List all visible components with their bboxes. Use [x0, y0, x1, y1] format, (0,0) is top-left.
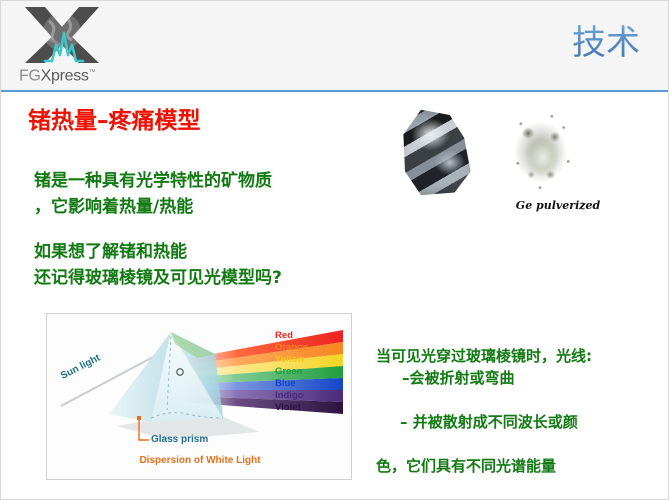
figure-caption: Dispersion of White Light: [47, 455, 352, 466]
spectrum-label-indigo: Indigo: [275, 390, 304, 401]
right-bullet-1: –会被折射或弯曲: [376, 367, 664, 389]
body-paragraph-1: 锗是一种具有光学特性的矿物质 ，它影响着热量/热能: [34, 168, 374, 220]
prism-dispersion-figure: Red Orange Yellow Green Blue Indigo Viol…: [46, 313, 352, 480]
slide-canvas: FGXpress™ 技术 锗热量–疼痛模型 锗是一种具有光学特性的矿物质 ，它影…: [0, 0, 669, 500]
powder-pile-graphic: [506, 105, 580, 199]
germanium-powder-photo: [506, 105, 580, 199]
spectrum-label-violet: Violet: [275, 402, 301, 413]
header-divider-line: [1, 90, 669, 92]
photo-caption: Ge pulverized: [488, 199, 628, 212]
spectrum-label-green: Green: [275, 366, 302, 377]
spectrum-label-yellow: Yellow: [275, 354, 305, 365]
spectrum-label-red: Red: [275, 330, 293, 341]
logo-xpress-text: Xpress: [41, 67, 89, 84]
page-title: 技术: [572, 19, 640, 67]
logo-fg-text: FG: [19, 67, 41, 84]
right-bullet-2: – 并被散射成不同波长或颜: [376, 411, 664, 433]
logo-x-globe-icon: [23, 5, 101, 65]
right-bullet-2-cont: 色，它们具有不同光谱能量: [376, 457, 556, 475]
right-lead-line: 当可见光穿过玻璃棱镜时，光线:: [376, 347, 592, 365]
body-paragraph-right: 当可见光穿过玻璃棱镜时，光线: –会被折射或弯曲 – 并被散射成不同波长或颜 色…: [376, 323, 664, 477]
logo-wordmark: FGXpress™: [19, 63, 111, 86]
logo-trademark: ™: [89, 69, 96, 76]
spectrum-label-blue: Blue: [275, 378, 296, 389]
label-glass-prism: Glass prism: [151, 434, 208, 445]
body-paragraph-2: 如果想了解锗和热能 还记得玻璃棱镜及可见光模型吗?: [34, 239, 374, 291]
spectrum-label-orange: Orange: [275, 342, 308, 353]
fgxpress-logo: FGXpress™: [15, 5, 111, 87]
section-heading-red: 锗热量–疼痛模型: [28, 106, 201, 136]
